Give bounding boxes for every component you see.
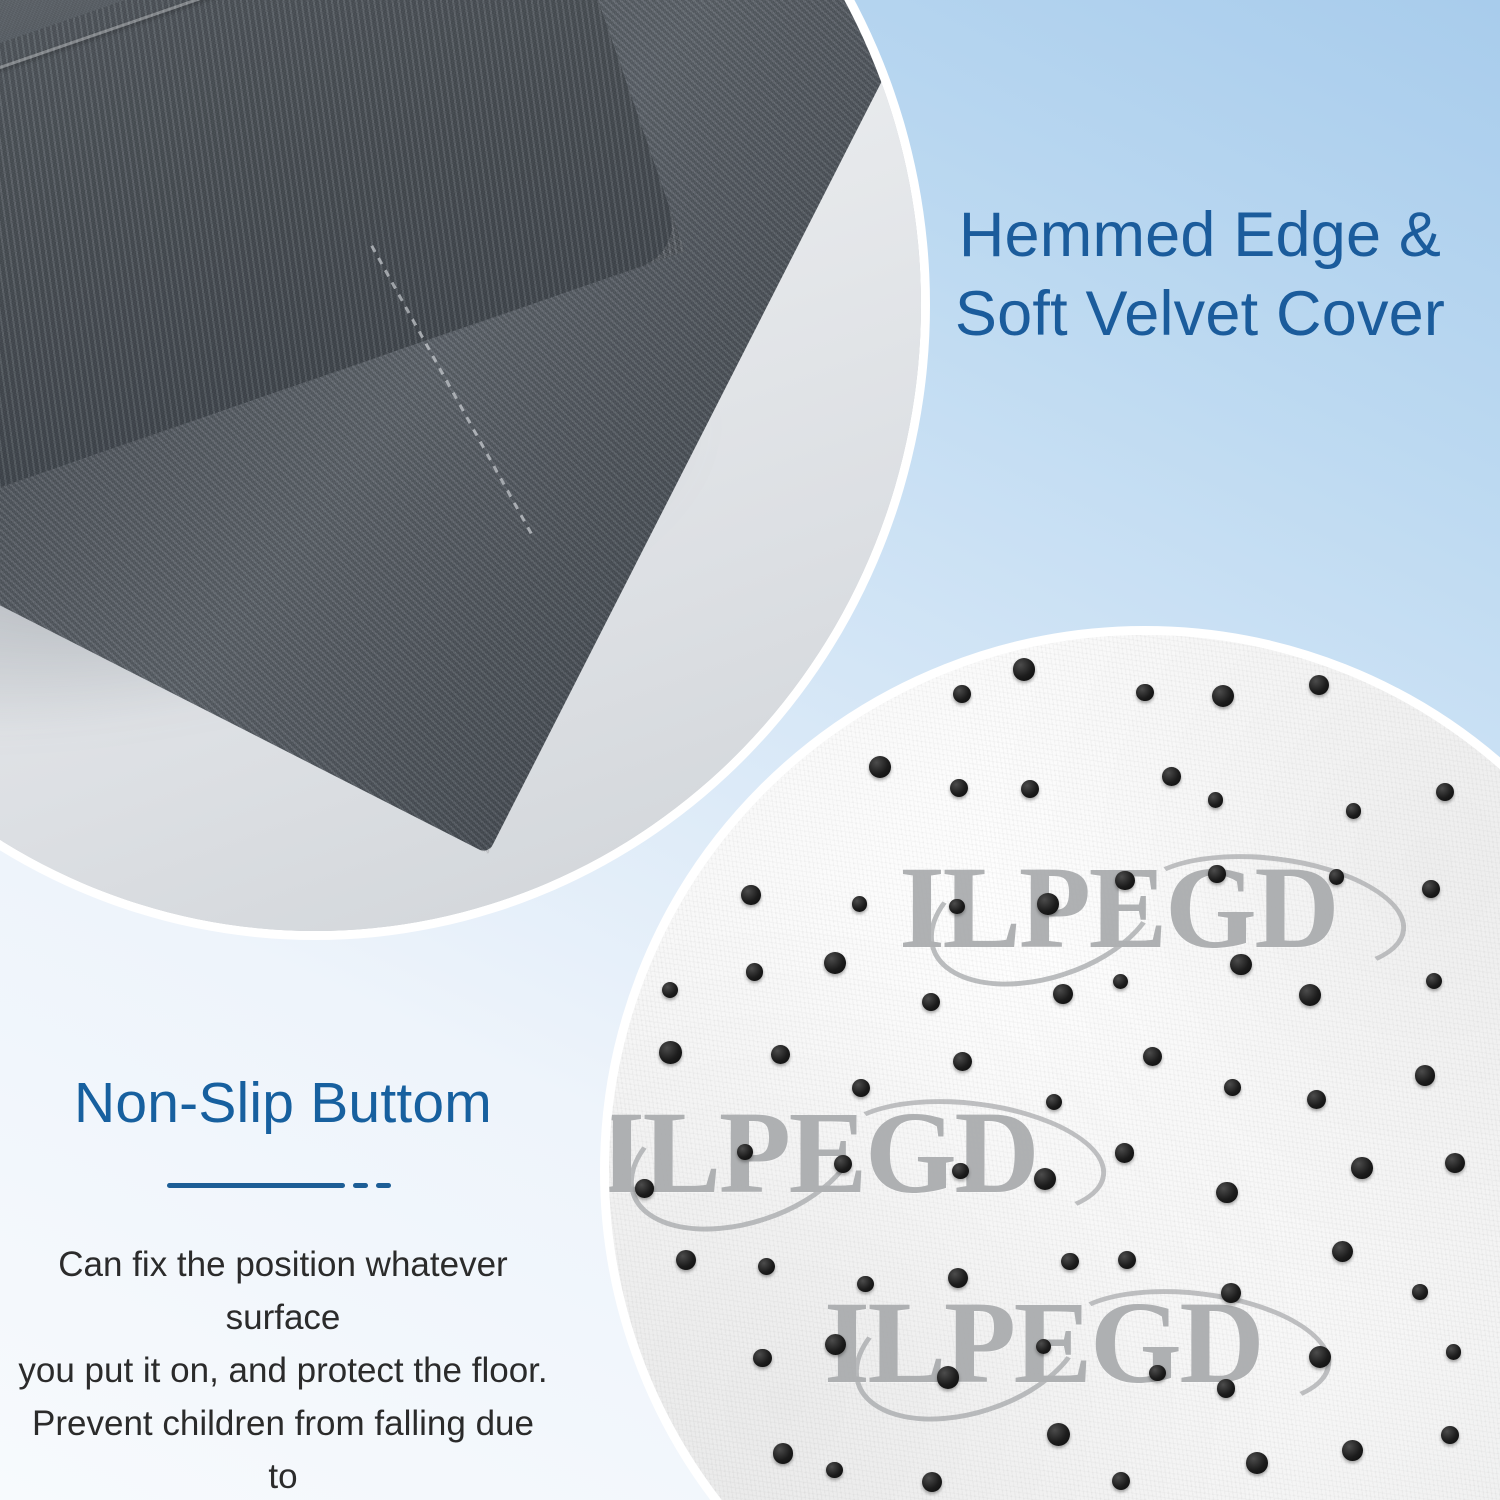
divider-dash (353, 1183, 368, 1188)
anti-slip-dot (825, 1334, 846, 1355)
anti-slip-dot (953, 1052, 972, 1071)
anti-slip-dot (952, 1163, 969, 1180)
anti-slip-dot (753, 1349, 772, 1368)
anti-slip-dot (869, 756, 891, 778)
non-slip-heading: Non-Slip Buttom (0, 1072, 566, 1135)
anti-slip-dot (1309, 675, 1329, 695)
anti-slip-dot (1342, 1440, 1363, 1461)
anti-slip-dot (1047, 1423, 1070, 1446)
anti-slip-dot-grid (609, 635, 1500, 1500)
anti-slip-dot (662, 982, 678, 998)
anti-slip-dot (1162, 767, 1181, 786)
anti-slip-dot (746, 963, 764, 981)
anti-slip-dot (1224, 1079, 1241, 1096)
anti-slip-dot (659, 1041, 681, 1063)
anti-slip-dot (635, 1179, 653, 1197)
anti-slip-dot (1118, 1251, 1136, 1269)
anti-slip-dot (1021, 780, 1039, 798)
anti-slip-dot (852, 896, 867, 911)
anti-slip-dot (834, 1155, 852, 1173)
anti-slip-dot (1037, 893, 1058, 914)
non-slip-description-line-2: you put it on, and protect the floor. (18, 1344, 548, 1397)
anti-slip-dot (922, 1472, 942, 1492)
anti-slip-dot (1415, 1065, 1435, 1085)
anti-slip-dot (773, 1443, 794, 1464)
anti-slip-dot (1307, 1090, 1327, 1110)
anti-slip-dot (1046, 1094, 1062, 1110)
anti-slip-dot (949, 899, 964, 914)
anti-slip-dot (1149, 1365, 1165, 1381)
anti-slip-dot (1329, 869, 1344, 884)
anti-slip-dot (1446, 1344, 1461, 1359)
infographic-canvas: ILPEGD ILPEGD ILPEGD Hemmed Edge & Soft … (0, 0, 1500, 1500)
anti-slip-dot (1299, 984, 1321, 1006)
anti-slip-dot (771, 1045, 790, 1064)
divider-dash (376, 1183, 391, 1188)
hemmed-edge-heading: Hemmed Edge & Soft Velvet Cover (905, 196, 1495, 355)
anti-slip-dot (1445, 1153, 1465, 1173)
anti-slip-dot (1115, 871, 1135, 891)
anti-slip-dot (1346, 803, 1361, 818)
anti-slip-dot (1053, 984, 1073, 1004)
anti-slip-dot (1115, 1143, 1134, 1162)
anti-slip-dot (1136, 684, 1154, 702)
anti-slip-dot (1441, 1426, 1459, 1444)
anti-slip-dot (1230, 954, 1251, 975)
anti-slip-dot (1034, 1168, 1056, 1190)
anti-slip-dot (1422, 880, 1440, 898)
anti-slip-dot (1208, 792, 1224, 808)
anti-slip-dot (1332, 1241, 1353, 1262)
anti-slip-dot (1217, 1379, 1236, 1398)
non-slip-description-line-3: Prevent children from falling due to (18, 1397, 548, 1500)
anti-slip-dot (950, 779, 968, 797)
anti-slip-dot (1426, 973, 1443, 990)
anti-slip-dot (852, 1079, 870, 1097)
anti-slip-dot (676, 1250, 696, 1270)
anti-slip-dot (758, 1258, 775, 1275)
non-slip-bottom-photo: ILPEGD ILPEGD ILPEGD (600, 626, 1500, 1500)
anti-slip-dot (1436, 783, 1454, 801)
anti-slip-dot (1061, 1253, 1078, 1270)
anti-slip-dot (1112, 1472, 1130, 1490)
anti-slip-dot (1036, 1339, 1051, 1354)
anti-slip-dot (1208, 865, 1225, 882)
anti-slip-dot (1246, 1452, 1268, 1474)
non-slip-description-line-1: Can fix the position whatever surface (18, 1238, 548, 1344)
anti-slip-dot (824, 952, 846, 974)
anti-slip-dot (1013, 658, 1035, 680)
divider-bar (167, 1183, 345, 1188)
anti-slip-dot (953, 685, 971, 703)
anti-slip-dot (1216, 1182, 1238, 1204)
hemmed-edge-heading-line-1: Hemmed Edge & (905, 196, 1495, 275)
non-slip-description: Can fix the position whatever surface yo… (0, 1238, 566, 1500)
anti-slip-dot (1212, 685, 1234, 707)
anti-slip-dot (948, 1268, 968, 1288)
anti-slip-dot (1113, 974, 1129, 990)
anti-slip-dot (826, 1462, 843, 1479)
anti-slip-dot (1412, 1284, 1428, 1300)
anti-slip-dot (922, 993, 940, 1011)
non-slip-feature-block: Non-Slip Buttom Can fix the position wha… (0, 1072, 566, 1500)
anti-slip-dot (741, 885, 761, 905)
anti-slip-dot (857, 1276, 874, 1293)
anti-slip-dot (1351, 1157, 1372, 1178)
anti-slip-dot (937, 1366, 959, 1388)
heading-divider (167, 1181, 399, 1190)
anti-slip-dot (1221, 1283, 1241, 1303)
hemmed-edge-heading-line-2: Soft Velvet Cover (905, 275, 1495, 354)
anti-slip-dot (1309, 1346, 1331, 1368)
anti-slip-dot (737, 1144, 753, 1160)
grip-photo-inner: ILPEGD ILPEGD ILPEGD (609, 635, 1500, 1500)
anti-slip-dot (1143, 1047, 1162, 1066)
